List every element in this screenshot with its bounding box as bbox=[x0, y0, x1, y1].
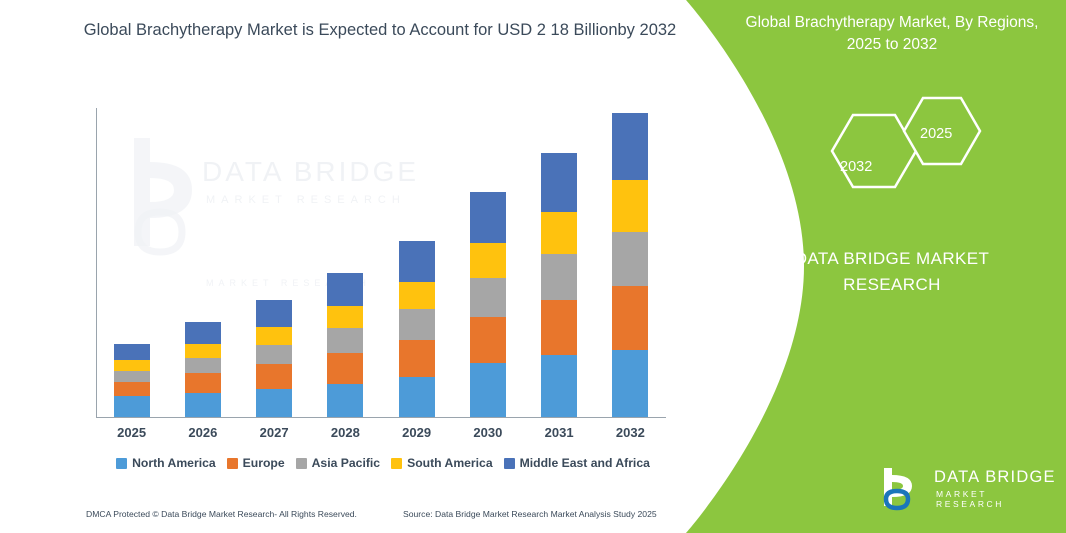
bar-slot bbox=[167, 108, 238, 417]
bar-segment[interactable] bbox=[114, 382, 150, 396]
x-axis-label: 2030 bbox=[452, 425, 523, 440]
bar-segment[interactable] bbox=[541, 254, 577, 300]
page-title: Global Brachytherapy Market is Expected … bbox=[60, 18, 700, 44]
data-bridge-logo-icon bbox=[878, 466, 930, 514]
chart-plot-area bbox=[96, 108, 666, 418]
bar-stack[interactable] bbox=[399, 241, 435, 417]
legend-swatch bbox=[116, 458, 127, 469]
bar-slot bbox=[96, 108, 167, 417]
x-axis-labels: 20252026202720282029203020312032 bbox=[96, 425, 666, 440]
hexagon-2032-icon bbox=[832, 115, 916, 187]
bar-segment[interactable] bbox=[327, 273, 363, 306]
bar-slot bbox=[595, 108, 666, 417]
bar-slot bbox=[452, 108, 523, 417]
x-axis-label: 2029 bbox=[381, 425, 452, 440]
legend-item[interactable]: North America bbox=[116, 456, 216, 470]
bar-segment[interactable] bbox=[470, 243, 506, 278]
bar-stack[interactable] bbox=[185, 322, 221, 417]
legend-item[interactable]: Asia Pacific bbox=[296, 456, 380, 470]
chart-legend: North AmericaEuropeAsia PacificSouth Ame… bbox=[90, 456, 676, 470]
legend-item[interactable]: Europe bbox=[227, 456, 285, 470]
footer-source: Source: Data Bridge Market Research Mark… bbox=[403, 509, 657, 519]
footer-copyright: DMCA Protected © Data Bridge Market Rese… bbox=[86, 509, 357, 519]
bar-segment[interactable] bbox=[541, 300, 577, 355]
bar-stack[interactable] bbox=[114, 344, 150, 417]
bar-segment[interactable] bbox=[612, 232, 648, 286]
right-panel: Global Brachytherapy Market, By Regions,… bbox=[686, 0, 1066, 533]
bar-segment[interactable] bbox=[541, 355, 577, 417]
bar-segment[interactable] bbox=[612, 113, 648, 180]
panel-title: Global Brachytherapy Market, By Regions,… bbox=[742, 12, 1042, 57]
brand-logo: DATA BRIDGE MARKET RESEARCH bbox=[878, 466, 1058, 518]
legend-label: South America bbox=[407, 456, 493, 470]
bar-segment[interactable] bbox=[185, 322, 221, 344]
logo-title: DATA BRIDGE bbox=[934, 468, 1056, 487]
bar-stack[interactable] bbox=[256, 300, 292, 417]
hexagon-group: 2032 2025 bbox=[804, 96, 1014, 206]
bar-segment[interactable] bbox=[256, 300, 292, 327]
bar-stack[interactable] bbox=[541, 153, 577, 417]
x-axis-label: 2031 bbox=[524, 425, 595, 440]
bar-segment[interactable] bbox=[256, 345, 292, 364]
panel-brand-line-1: DATA BRIDGE MARKET bbox=[732, 246, 1052, 272]
hexagon-2032-label: 2032 bbox=[840, 159, 872, 175]
bar-segment[interactable] bbox=[327, 306, 363, 328]
bar-segment[interactable] bbox=[399, 309, 435, 340]
legend-label: North America bbox=[132, 456, 216, 470]
bar-stack[interactable] bbox=[612, 113, 648, 417]
bar-segment[interactable] bbox=[541, 153, 577, 212]
bar-segment[interactable] bbox=[470, 192, 506, 244]
legend-swatch bbox=[391, 458, 402, 469]
bar-slot bbox=[239, 108, 310, 417]
bar-segment[interactable] bbox=[541, 212, 577, 253]
x-axis-label: 2026 bbox=[167, 425, 238, 440]
bar-segment[interactable] bbox=[256, 327, 292, 345]
bar-segment[interactable] bbox=[399, 282, 435, 309]
hexagon-2025-label: 2025 bbox=[920, 126, 952, 142]
bar-slot bbox=[524, 108, 595, 417]
bar-segment[interactable] bbox=[256, 389, 292, 417]
bar-segment[interactable] bbox=[185, 393, 221, 417]
x-axis-label: 2027 bbox=[239, 425, 310, 440]
x-axis-line bbox=[96, 417, 666, 418]
bar-segment[interactable] bbox=[612, 350, 648, 417]
legend-swatch bbox=[296, 458, 307, 469]
bar-slot bbox=[381, 108, 452, 417]
bar-segment[interactable] bbox=[470, 278, 506, 317]
bar-segment[interactable] bbox=[114, 360, 150, 370]
bar-segment[interactable] bbox=[185, 344, 221, 358]
panel-brand-name: DATA BRIDGE MARKET RESEARCH bbox=[732, 246, 1052, 297]
bar-segment[interactable] bbox=[114, 396, 150, 417]
legend-swatch bbox=[227, 458, 238, 469]
bar-segment[interactable] bbox=[114, 344, 150, 361]
stacked-bars bbox=[96, 108, 666, 417]
legend-label: Europe bbox=[243, 456, 285, 470]
bar-segment[interactable] bbox=[399, 340, 435, 377]
bar-stack[interactable] bbox=[327, 273, 363, 417]
bar-segment[interactable] bbox=[185, 373, 221, 392]
legend-label: Middle East and Africa bbox=[520, 456, 650, 470]
bar-segment[interactable] bbox=[399, 377, 435, 417]
bar-segment[interactable] bbox=[327, 328, 363, 352]
bar-segment[interactable] bbox=[327, 353, 363, 384]
bar-segment[interactable] bbox=[327, 384, 363, 417]
legend-label: Asia Pacific bbox=[312, 456, 380, 470]
bar-segment[interactable] bbox=[399, 241, 435, 282]
bar-stack[interactable] bbox=[470, 192, 506, 417]
bar-segment[interactable] bbox=[612, 180, 648, 232]
legend-swatch bbox=[504, 458, 515, 469]
x-axis-label: 2032 bbox=[595, 425, 666, 440]
x-axis-label: 2025 bbox=[96, 425, 167, 440]
bar-segment[interactable] bbox=[612, 286, 648, 350]
hexagon-icons bbox=[804, 96, 1014, 206]
bar-slot bbox=[310, 108, 381, 417]
panel-brand-line-2: RESEARCH bbox=[732, 272, 1052, 298]
logo-subtitle: MARKET RESEARCH bbox=[936, 489, 1058, 509]
bar-segment[interactable] bbox=[114, 371, 150, 383]
legend-item[interactable]: South America bbox=[391, 456, 493, 470]
bar-segment[interactable] bbox=[470, 363, 506, 417]
bar-segment[interactable] bbox=[256, 364, 292, 388]
bar-segment[interactable] bbox=[470, 317, 506, 363]
infographic-page: Global Brachytherapy Market is Expected … bbox=[0, 0, 1066, 533]
bar-segment[interactable] bbox=[185, 358, 221, 373]
x-axis-label: 2028 bbox=[310, 425, 381, 440]
legend-item[interactable]: Middle East and Africa bbox=[504, 456, 650, 470]
